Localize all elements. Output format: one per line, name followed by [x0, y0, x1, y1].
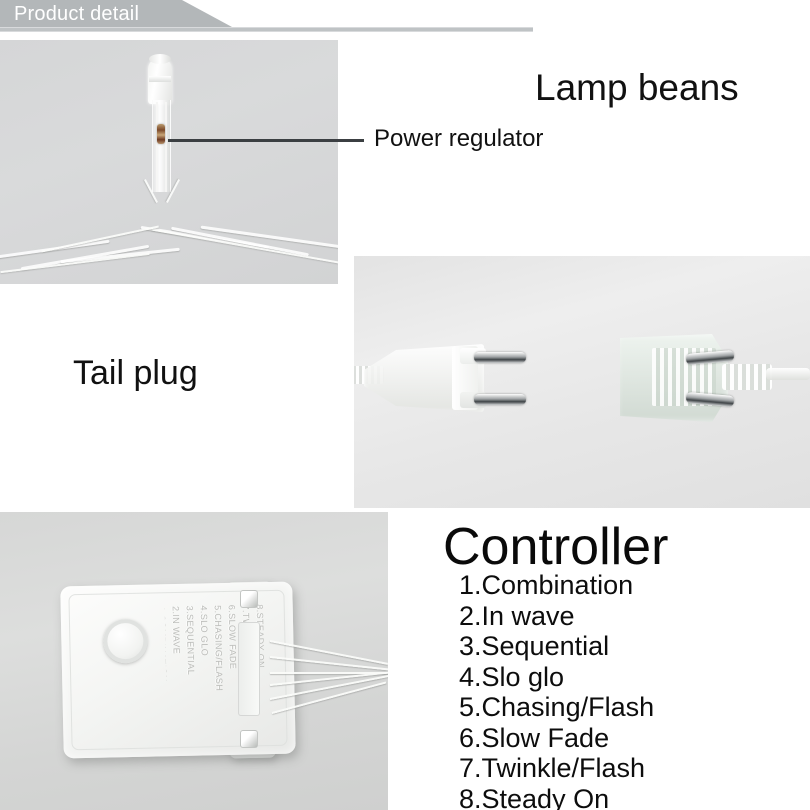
list-item: 7.Twinkle/Flash [459, 753, 654, 784]
label-tail-plug: Tail plug [73, 352, 198, 394]
list-item: 4.Slo glo [459, 662, 654, 693]
emboss-line: 6.SLOW FADE [227, 605, 238, 670]
plug-male [364, 344, 524, 412]
list-item: 8.Steady On [459, 784, 654, 810]
plug-pin-bottom [474, 394, 526, 405]
controller-battery-slot [238, 622, 260, 716]
controller-screw-bottom [240, 730, 258, 748]
plug-female-cord [766, 368, 810, 380]
emboss-line: 5.CHASING/FLASH [213, 605, 225, 691]
led-bulb-cap [149, 54, 171, 64]
product-detail-page: Product detail Power regulator Lamp bean… [0, 0, 810, 810]
list-item: 6.Slow Fade [459, 723, 654, 754]
emboss-line: 4.SLO GLO [199, 605, 210, 656]
power-regulator-leader-line [168, 139, 364, 142]
emboss-line: 2.IN WAVE [171, 606, 182, 654]
photo-lamp-bead [0, 40, 338, 284]
photo-controller-box: 1.COMBINATION 2.IN WAVE 3.SEQUENTIAL 4.S… [0, 512, 388, 810]
label-power-regulator: Power regulator [374, 124, 543, 154]
controller-mode-list: 1.Combination 2.In wave 3.Sequential 4.S… [459, 570, 654, 810]
plug-female [616, 334, 806, 422]
led-lead-wire-right [165, 102, 167, 192]
controller-body: 1.COMBINATION 2.IN WAVE 3.SEQUENTIAL 4.S… [60, 582, 296, 759]
banner: Product detail [0, 0, 810, 40]
plug-pin-top [474, 352, 526, 363]
plug-female-neck [722, 364, 772, 390]
emboss-line: 1.COMBINATION [165, 606, 169, 682]
emboss-line: 3.SEQUENTIAL [185, 606, 196, 676]
list-item: 1.Combination [459, 570, 654, 601]
led-bulb-ridge [149, 76, 171, 82]
label-lamp-beans: Lamp beans [535, 66, 739, 110]
power-regulator-resistor [157, 124, 165, 144]
photo-tail-plugs [354, 256, 810, 508]
controller-heading: Controller [443, 518, 668, 576]
banner-divider [0, 27, 533, 32]
list-item: 3.Sequential [459, 631, 654, 662]
page-title: Product detail [14, 2, 139, 26]
cable-strand [0, 253, 149, 273]
list-item: 2.In wave [459, 601, 654, 632]
controller-embossed-labels: 1.COMBINATION 2.IN WAVE 3.SEQUENTIAL 4.S… [165, 604, 296, 739]
controller-screw-top [240, 590, 258, 608]
led-bulb-stem [152, 100, 171, 192]
led-lead-wire-left [156, 102, 158, 192]
list-item: 5.Chasing/Flash [459, 692, 654, 723]
